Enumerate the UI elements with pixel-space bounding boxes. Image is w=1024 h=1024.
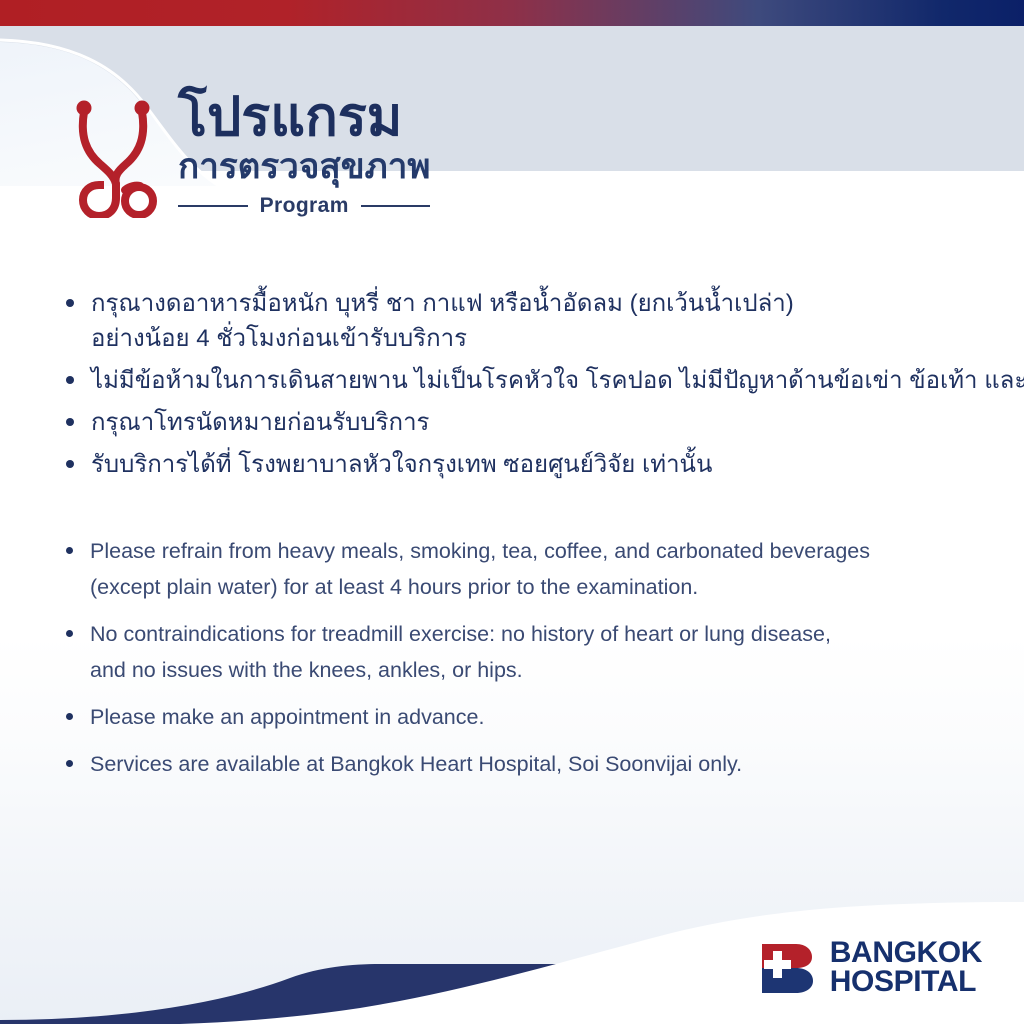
bullet-dot-icon xyxy=(66,760,73,767)
bullet-dot-icon xyxy=(66,299,74,307)
list-item: Please make an appointment in advance. xyxy=(66,699,996,735)
list-item: รับบริการได้ที่ โรงพยาบาลหัวใจกรุงเทพ ซอ… xyxy=(66,447,996,482)
list-item: กรุณาโทรนัดหมายก่อนรับบริการ xyxy=(66,405,996,440)
program-title-thai: โปรแกรม xyxy=(178,86,402,148)
list-item: Services are available at Bangkok Heart … xyxy=(66,746,996,782)
brand-wordmark: BANGKOK HOSPITAL xyxy=(830,938,982,996)
bullet-dot-icon xyxy=(66,376,74,384)
header-text-block: โปรแกรม การตรวจสุขภาพ Program xyxy=(178,86,430,218)
bullet-dot-icon xyxy=(66,713,73,720)
list-item-text: กรุณาโทรนัดหมายก่อนรับบริการ xyxy=(91,405,996,440)
list-item-text: รับบริการได้ที่ โรงพยาบาลหัวใจกรุงเทพ ซอ… xyxy=(91,447,996,482)
list-item: Please refrain from heavy meals, smoking… xyxy=(66,533,996,605)
brand-lockup: BANGKOK HOSPITAL xyxy=(760,938,982,996)
bullet-dot-icon xyxy=(66,547,73,554)
list-item-line: ไม่มีข้อห้ามในการเดินสายพาน ไม่เป็นโรคหั… xyxy=(91,363,1024,398)
list-item-line: Please refrain from heavy meals, smoking… xyxy=(90,533,996,569)
list-item-line: No contraindications for treadmill exerc… xyxy=(90,616,996,652)
stethoscope-icon xyxy=(70,90,162,218)
brand-line-bangkok: BANGKOK xyxy=(830,938,982,967)
program-label: Program xyxy=(248,194,361,218)
list-item-line: (except plain water) for at least 4 hour… xyxy=(90,569,996,605)
list-item-text: Please make an appointment in advance. xyxy=(90,699,996,735)
bullet-dot-icon xyxy=(66,460,74,468)
poster-canvas: โปรแกรม การตรวจสุขภาพ Program กรุณางดอาห… xyxy=(0,0,1024,1024)
list-item-line: Please make an appointment in advance. xyxy=(90,699,996,735)
list-item-line: กรุณางดอาหารมื้อหนัก บุหรี่ ชา กาแฟ หรือ… xyxy=(91,286,996,321)
list-item-line: อย่างน้อย 4 ชั่วโมงก่อนเข้ารับบริการ xyxy=(91,321,996,356)
list-item-text: No contraindications for treadmill exerc… xyxy=(90,616,996,688)
bullet-dot-icon xyxy=(66,418,74,426)
list-item-line: and no issues with the knees, ankles, or… xyxy=(90,652,996,688)
list-item-line: รับบริการได้ที่ โรงพยาบาลหัวใจกรุงเทพ ซอ… xyxy=(91,447,996,482)
program-label-row: Program xyxy=(178,194,430,218)
program-subtitle-thai: การตรวจสุขภาพ xyxy=(178,146,430,188)
list-item-line: Services are available at Bangkok Heart … xyxy=(90,746,996,782)
list-item-text: กรุณางดอาหารมื้อหนัก บุหรี่ ชา กาแฟ หรือ… xyxy=(91,286,996,356)
program-rule-left xyxy=(178,205,248,207)
list-item: No contraindications for treadmill exerc… xyxy=(66,616,996,688)
english-notes-list: Please refrain from heavy meals, smoking… xyxy=(66,533,996,793)
list-item-text: ไม่มีข้อห้ามในการเดินสายพาน ไม่เป็นโรคหั… xyxy=(91,363,1024,398)
list-item-line: กรุณาโทรนัดหมายก่อนรับบริการ xyxy=(91,405,996,440)
list-item: ไม่มีข้อห้ามในการเดินสายพาน ไม่เป็นโรคหั… xyxy=(66,363,996,398)
list-item: กรุณางดอาหารมื้อหนัก บุหรี่ ชา กาแฟ หรือ… xyxy=(66,286,996,356)
program-rule-right xyxy=(361,205,431,207)
bangkok-hospital-logo-icon xyxy=(760,938,818,996)
list-item-text: Services are available at Bangkok Heart … xyxy=(90,746,996,782)
list-item-text: Please refrain from heavy meals, smoking… xyxy=(90,533,996,605)
brand-line-hospital: HOSPITAL xyxy=(830,967,982,996)
top-gradient-bar xyxy=(0,0,1024,26)
bullet-dot-icon xyxy=(66,630,73,637)
header-lockup: โปรแกรม การตรวจสุขภาพ Program xyxy=(70,86,430,218)
thai-notes-list: กรุณางดอาหารมื้อหนัก บุหรี่ ชา กาแฟ หรือ… xyxy=(66,286,996,489)
